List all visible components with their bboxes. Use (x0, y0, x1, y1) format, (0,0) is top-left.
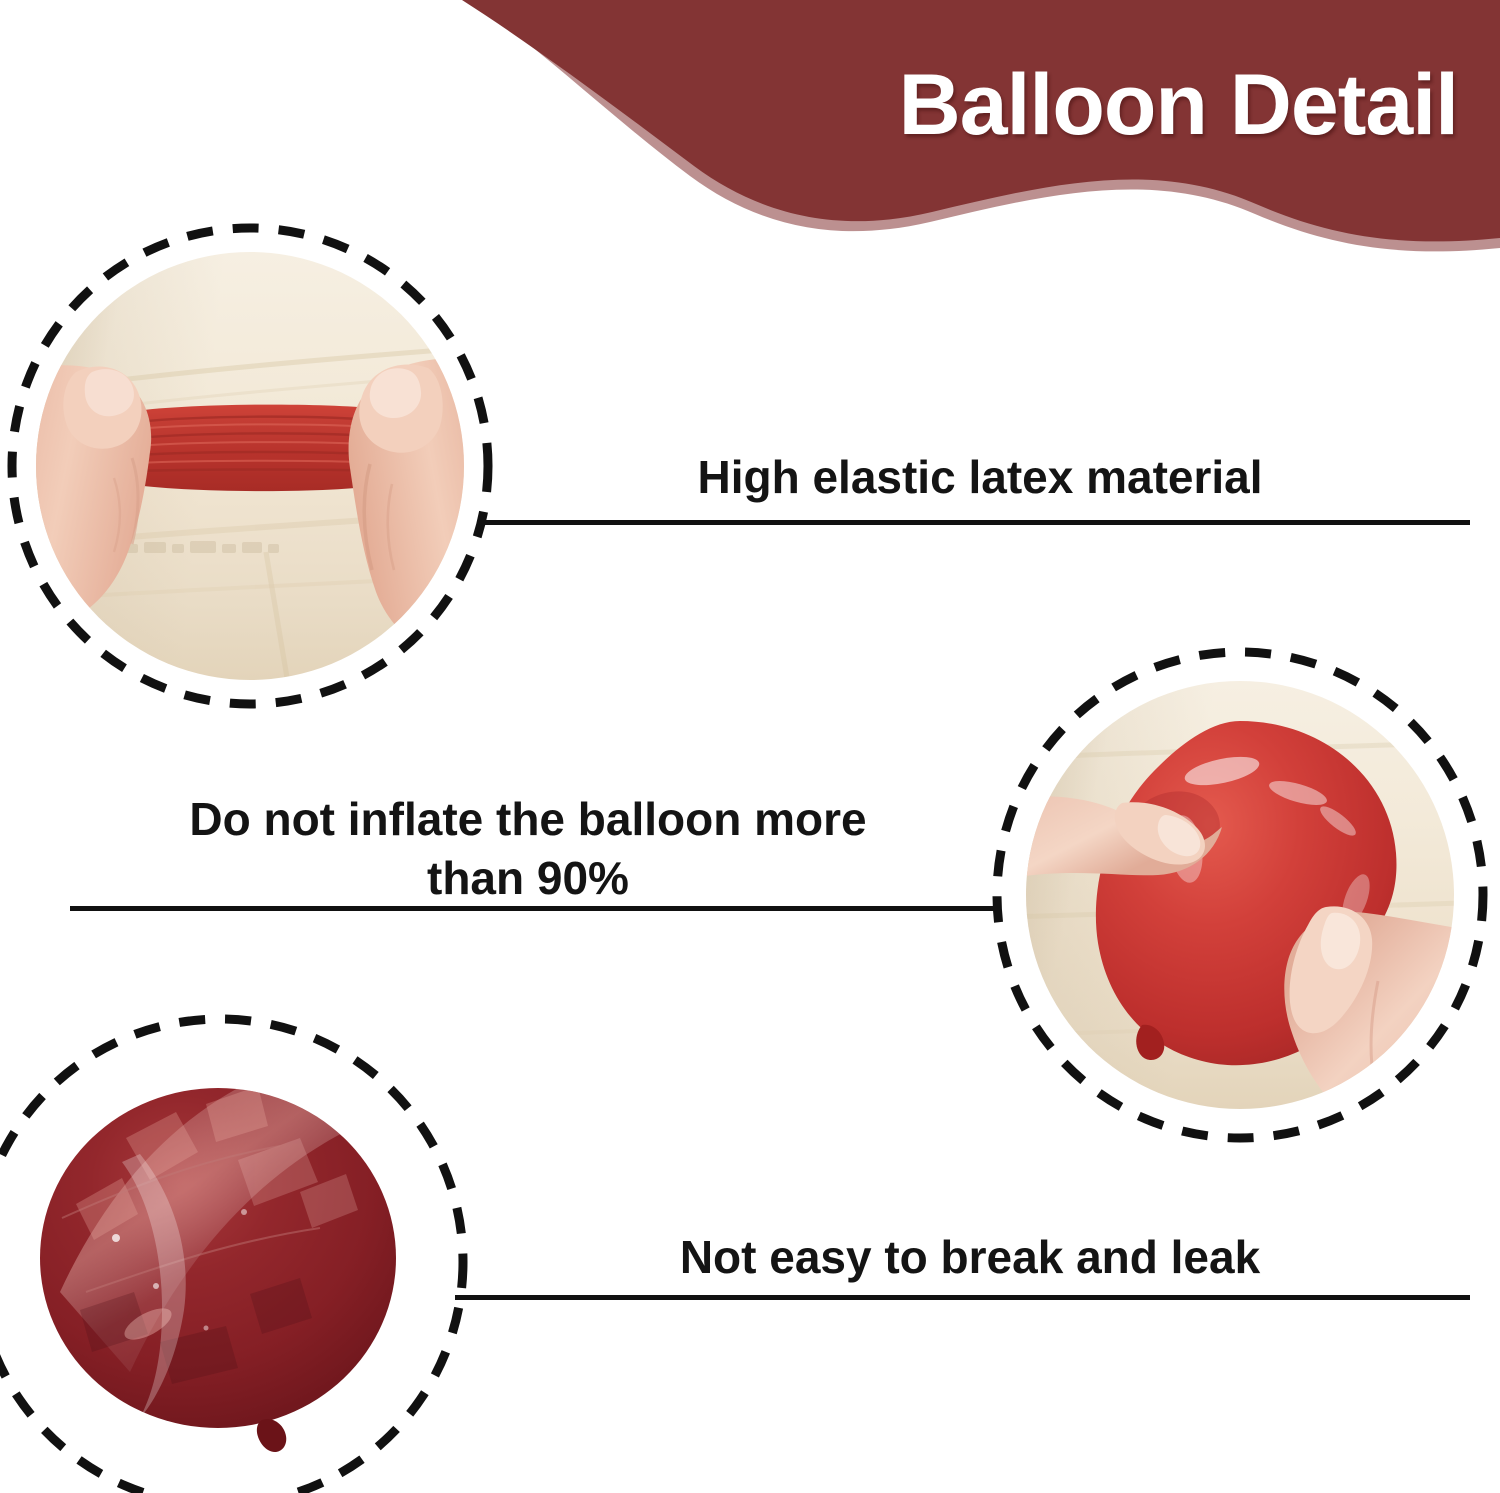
feature-1-leader-line (478, 520, 1470, 525)
page-title: Balloon Detail (899, 56, 1458, 155)
glossy-burgundy-balloon (0, 1042, 440, 1482)
feature-1-image-circle (6, 222, 494, 710)
lower-hand (1026, 681, 1454, 1109)
feature-2-photo (1026, 681, 1454, 1109)
feature-1-photo (36, 252, 464, 680)
feature-3-caption: Not easy to break and leak (470, 1228, 1470, 1287)
infographic-page: Balloon Detail (0, 0, 1500, 1493)
feature-2-image-circle (990, 645, 1490, 1145)
feature-2-caption: Do not inflate the balloon more than 90% (68, 790, 988, 908)
feature-3-leader-line (455, 1295, 1470, 1300)
feature-3-image-circle (0, 1012, 470, 1493)
feature-1-caption: High elastic latex material (500, 448, 1460, 507)
right-hand (36, 252, 464, 680)
feature-3-photo (0, 1042, 440, 1482)
